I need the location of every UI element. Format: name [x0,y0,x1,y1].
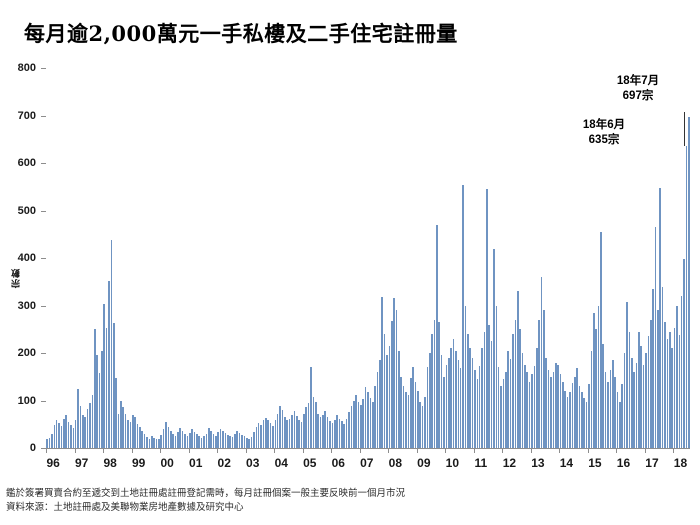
bar [486,189,488,448]
bar [168,427,170,448]
bar [586,402,588,448]
bar [676,306,678,449]
footer-note: 鑑於簽署買賣合約至遞交到土地註冊處註冊登記需時，每月註冊個案一般主要反映前一個月… [6,487,696,501]
bar [674,328,676,448]
bar [322,415,324,448]
bar [529,382,531,449]
x-axis-tick-label: 98 [103,456,116,470]
bar [367,392,369,448]
bar [548,370,550,448]
x-axis-tick-label: 10 [446,456,459,470]
bar [130,422,132,448]
bar [125,414,127,448]
bar [246,438,248,448]
footer-source: 資料來源：土地註冊處及美聯物業房地產數據及研究中心 [6,501,696,515]
annotation-value: 697宗 [598,89,678,104]
x-axis-tick-mark [645,448,646,453]
bar [320,417,322,448]
bar [153,438,155,448]
bar [106,328,108,448]
bar [225,433,227,448]
bar [403,386,405,448]
bar [536,348,538,448]
bar [51,434,53,448]
bar [441,355,443,448]
bar [398,351,400,448]
bar [562,382,564,449]
bar [583,398,585,448]
bar [184,434,186,448]
x-axis-tick-label: 99 [132,456,145,470]
bar [73,428,75,448]
bar [139,427,141,448]
bar [227,435,229,448]
bar [477,379,479,448]
bar [341,421,343,448]
bar [569,392,571,448]
bar [626,302,628,448]
bar [362,399,364,448]
y-axis-tick-label: 600 [0,157,36,169]
bar [450,348,452,448]
bar [158,439,160,449]
x-axis-tick-mark [474,448,475,453]
bar [619,402,621,448]
x-axis-tick-mark [303,448,304,453]
bar [429,353,431,448]
bar [564,391,566,448]
bar [659,188,661,448]
bar [58,423,60,448]
bar [545,358,547,448]
x-axis-tick-label: 04 [275,456,288,470]
bar [217,432,219,448]
bar [134,417,136,448]
bar [607,382,609,449]
bar [115,378,117,448]
bar [132,415,134,448]
bar [201,438,203,448]
bar [348,412,350,448]
y-axis-tick-label: 500 [0,205,36,217]
bar [474,370,476,448]
x-axis-tick-mark [246,448,247,453]
bar [149,439,151,449]
bar [94,329,96,448]
bar [270,423,272,448]
bar [248,439,250,448]
bar [329,421,331,448]
bar [194,432,196,448]
bar [576,368,578,448]
bar [303,414,305,448]
bar [636,363,638,449]
bar [355,395,357,448]
x-axis-tick-label: 96 [46,456,59,470]
y-axis-tick-label: 400 [0,252,36,264]
y-axis-tick-label: 0 [0,442,36,454]
bar [103,304,105,448]
bar [379,360,381,448]
bar [498,367,500,448]
x-axis-tick-label: 15 [588,456,601,470]
bar [386,355,388,448]
bar [643,365,645,448]
x-axis-tick-mark [531,448,532,453]
bar [633,372,635,448]
y-axis-label: 宗數 [9,268,22,288]
bar [610,370,612,448]
bar [652,289,654,448]
bar [284,417,286,448]
bar [80,406,82,448]
annotation-period: 18年6月 [564,118,644,133]
x-axis-tick-mark [388,448,389,453]
bar [156,439,158,448]
bar [220,429,222,448]
y-axis-tick-label: 800 [0,62,36,74]
x-axis-tick-label: 05 [303,456,316,470]
bar [543,310,545,448]
y-axis-tick-label: 700 [0,110,36,122]
bar [572,383,574,448]
x-axis-tick-mark [189,448,190,453]
bar [593,313,595,448]
bar [679,335,681,448]
bar [436,225,438,448]
bar [87,409,89,448]
bar [265,418,267,448]
bar [358,402,360,448]
bar [391,321,393,448]
bar [113,323,115,448]
bar [526,372,528,448]
bar [657,310,659,448]
bar [56,420,58,448]
bar [54,425,56,448]
x-axis-tick-label: 06 [332,456,345,470]
bar [434,320,436,448]
bar [68,422,70,448]
bar [308,403,310,448]
bar [443,377,445,448]
bar [541,277,543,448]
bar [415,382,417,449]
bar [191,429,193,448]
bar [515,320,517,448]
x-axis-tick-mark [46,448,47,453]
bar [189,433,191,448]
bar [591,351,593,448]
bar [279,406,281,448]
x-axis-tick-mark [417,448,418,453]
bar [462,185,464,448]
bar [681,296,683,448]
bar [458,360,460,448]
bar [581,392,583,448]
bar [453,339,455,448]
bar [179,428,181,448]
bar [522,353,524,448]
bar [99,373,101,448]
bar [370,398,372,448]
bar [555,363,557,449]
annotation-value: 635宗 [564,133,644,148]
bar [372,402,374,448]
bar [374,386,376,448]
bar [239,433,241,448]
bar [400,377,402,448]
bar [294,411,296,448]
bar [671,348,673,448]
bar [351,406,353,448]
bar [324,411,326,448]
bar [61,426,63,448]
bar [208,428,210,448]
bar [346,419,348,448]
x-axis-tick-label: 03 [246,456,259,470]
bar [381,297,383,448]
bar [89,403,91,448]
x-axis-tick-label: 01 [189,456,202,470]
bar [538,320,540,448]
bar [524,365,526,448]
bar [631,358,633,448]
bar [313,397,315,448]
bar [222,431,224,448]
bar [111,240,113,448]
bar [108,281,110,448]
x-axis-tick-mark [502,448,503,453]
bar [92,395,94,448]
bar [389,346,391,448]
x-axis-tick-mark [445,448,446,453]
bar [282,410,284,448]
bar [417,391,419,448]
bar [46,439,48,448]
x-axis-tick-label: 18 [674,456,687,470]
bar [617,392,619,448]
bar [431,334,433,448]
bar [215,436,217,448]
x-axis-tick-label: 09 [417,456,430,470]
bar [49,438,51,448]
bar [408,395,410,448]
bar [258,423,260,448]
bar [75,420,77,448]
bar [360,405,362,448]
bar [605,372,607,448]
bar [455,351,457,448]
bar [560,374,562,448]
bar [410,378,412,448]
bar [465,306,467,449]
bar [298,420,300,449]
x-axis-tick-label: 97 [75,456,88,470]
y-axis-tick-label: 300 [0,300,36,312]
bar [82,415,84,448]
bar [481,348,483,448]
bar [612,360,614,448]
bar [137,424,139,448]
bar [438,322,440,448]
bar [141,431,143,448]
bar [688,117,690,448]
bar [422,406,424,448]
bar [640,346,642,448]
bar [334,420,336,448]
bar [598,306,600,449]
chart-annotation: 18年7月697宗 [598,74,678,103]
bar [122,407,124,448]
bar [160,435,162,448]
x-axis-tick-mark [331,448,332,453]
bar [629,332,631,448]
bar [510,359,512,448]
bar [519,329,521,448]
bar [182,431,184,448]
bar [655,227,657,448]
bar [600,232,602,448]
bar [177,432,179,448]
bar [144,434,146,448]
x-axis-line [46,448,690,449]
bar [448,358,450,448]
bar [419,402,421,448]
bar [531,374,533,448]
bar [96,355,98,448]
bar [251,437,253,448]
bar [210,431,212,448]
bar [638,332,640,448]
bar [65,415,67,448]
bar [146,437,148,448]
x-axis-tick-mark [217,448,218,453]
bar [579,386,581,448]
x-axis-tick-mark [673,448,674,453]
bar [127,420,129,449]
bar [669,332,671,448]
bar [424,397,426,448]
x-axis-tick-mark [588,448,589,453]
bar [244,436,246,448]
bar [469,348,471,448]
bar [479,366,481,448]
bar [624,353,626,448]
bar [500,386,502,448]
bar [327,417,329,448]
x-axis-tick-mark [75,448,76,453]
bar [253,432,255,448]
bar [296,416,298,448]
bar [377,372,379,448]
bar [241,435,243,448]
bar [277,414,279,448]
bar [175,436,177,448]
x-axis-tick-mark [559,448,560,453]
bar [427,367,429,448]
annotation-period: 18年7月 [598,74,678,89]
bar [236,431,238,448]
bar [84,417,86,448]
bar [667,339,669,448]
bar [263,420,265,448]
bar [332,423,334,448]
bar [405,392,407,448]
bar [664,322,666,448]
x-axis-tick-label: 00 [161,456,174,470]
bar [301,422,303,448]
chart-annotation: 18年6月635宗 [564,118,644,147]
bar [70,425,72,448]
bar [512,334,514,448]
bar [557,365,559,448]
bar [460,368,462,448]
bar [472,358,474,448]
bar [339,419,341,448]
x-axis-tick-label: 11 [475,456,488,470]
bar [286,420,288,448]
x-axis-tick-label: 02 [218,456,231,470]
bar [291,415,293,448]
footer-notes: 鑑於簽署買賣合約至遞交到土地註冊處註冊登記需時，每月註冊個案一般主要反映前一個月… [6,487,696,515]
bar [595,329,597,448]
bar [602,344,604,449]
bar [256,427,258,448]
bar [365,387,367,448]
bar [550,377,552,448]
bar [310,367,312,448]
bar [491,341,493,448]
y-axis-tick-label: 100 [0,395,36,407]
bar [305,407,307,448]
x-axis-tick-mark [103,448,104,453]
bar [662,287,664,449]
bar [396,310,398,448]
bar [267,420,269,448]
x-axis-tick-label: 08 [389,456,402,470]
bar [275,420,277,448]
bar [198,436,200,448]
bar [493,249,495,449]
bar [213,434,215,448]
bar [614,377,616,448]
x-axis-tick-mark [616,448,617,453]
bar [343,424,345,448]
bar [260,425,262,448]
bar [488,325,490,449]
bar [517,291,519,448]
bar [206,434,208,448]
bar [621,384,623,448]
x-axis-tick-label: 17 [645,456,658,470]
bar [272,426,274,448]
x-axis-tick-mark [274,448,275,453]
bar [446,365,448,448]
bar [172,434,174,448]
bar [588,384,590,448]
bar [683,259,685,448]
bar [393,298,395,448]
bar [567,397,569,448]
bar [534,366,536,448]
x-axis-tick-label: 16 [617,456,630,470]
bar [289,419,291,448]
bar [232,437,234,448]
bar [317,414,319,448]
bar [412,367,414,448]
bar [645,353,647,448]
